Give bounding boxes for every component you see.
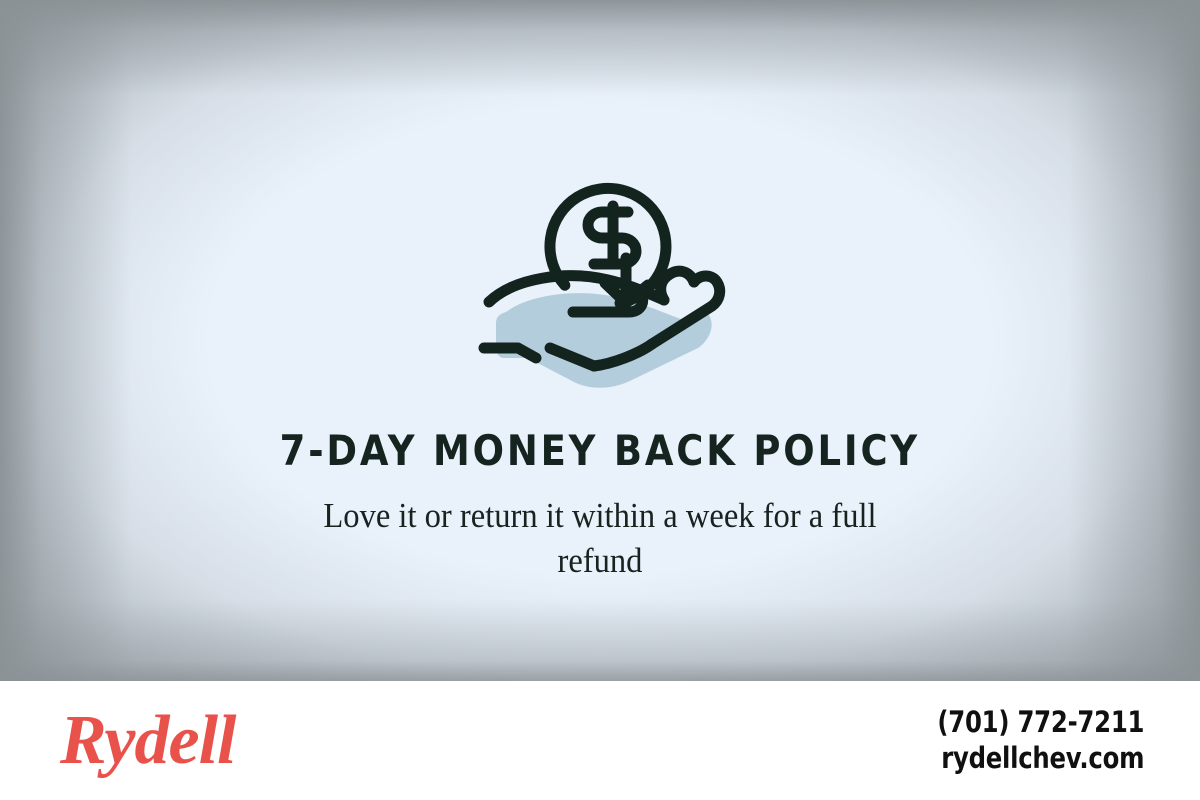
hero-section: 7-DAY MONEY BACK POLICY Love it or retur…: [0, 0, 1200, 681]
contact-block: (701) 772-7211 rydellchev.com: [937, 705, 1144, 776]
promo-subheadline: Love it or return it within a week for a…: [279, 494, 921, 584]
money-back-hand-icon: [470, 152, 730, 392]
promo-headline: 7-DAY MONEY BACK POLICY: [280, 430, 920, 472]
rydell-logo[interactable]: Rydell: [60, 706, 235, 776]
website-url[interactable]: rydellchev.com: [937, 741, 1144, 776]
footer-bar: Rydell (701) 772-7211 rydellchev.com: [0, 681, 1200, 800]
promo-banner: 7-DAY MONEY BACK POLICY Love it or retur…: [0, 0, 1200, 800]
hero-content: 7-DAY MONEY BACK POLICY Love it or retur…: [0, 0, 1200, 681]
phone-number[interactable]: (701) 772-7211: [937, 705, 1144, 740]
